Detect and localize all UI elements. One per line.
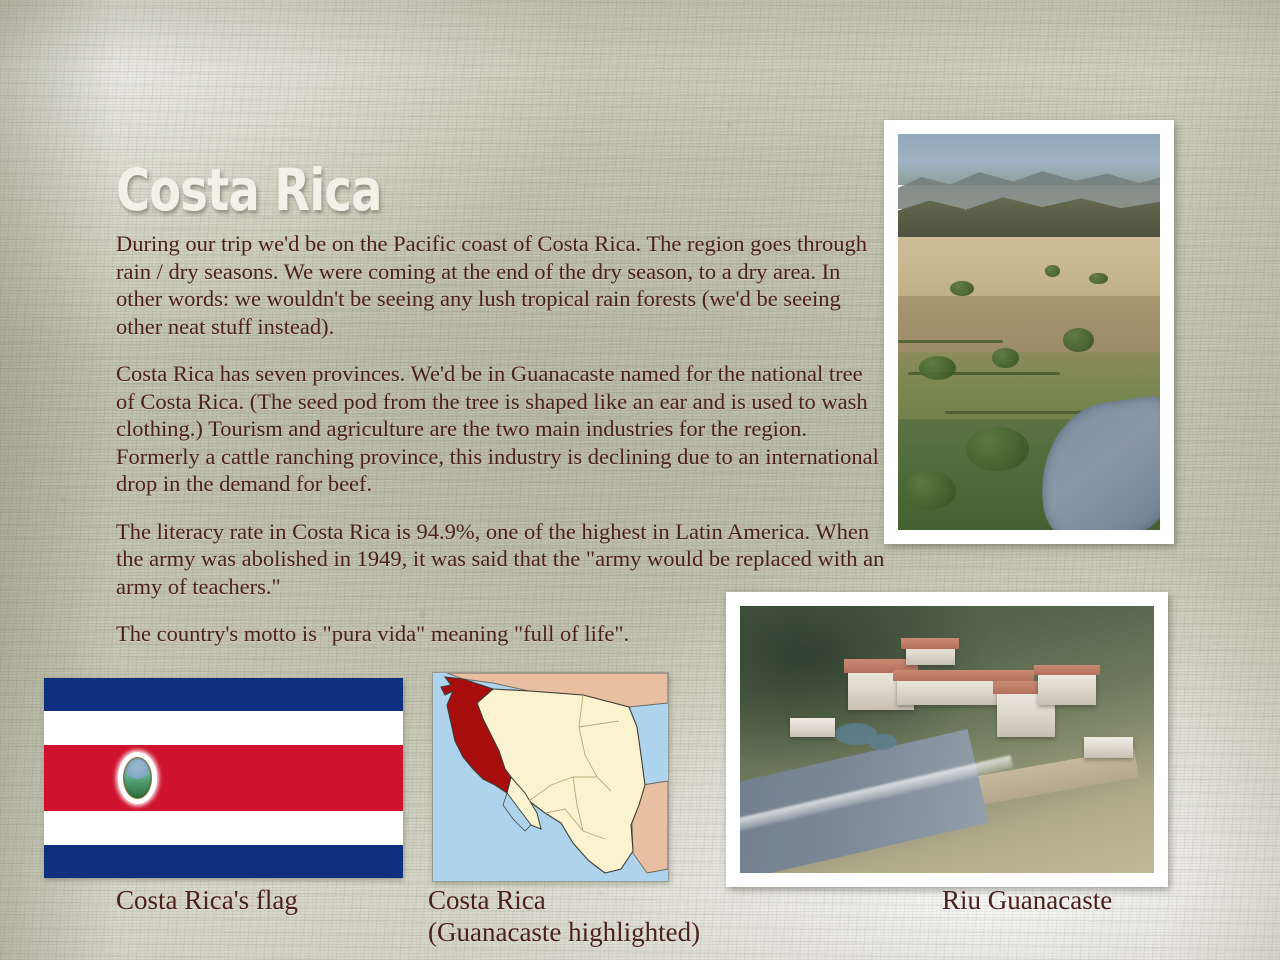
guanacaste-landscape-photo: [884, 120, 1174, 544]
flag-stripe-blue-top: [44, 678, 403, 711]
coat-of-arms: [118, 752, 157, 804]
resort-roof: [893, 670, 1034, 681]
landscape-dry-plain-lower: [898, 296, 1160, 359]
flag-stripe-white-top: [44, 711, 403, 744]
resort-photo-image: [740, 606, 1154, 873]
flag-stripe-red: [44, 745, 403, 812]
resort-outbuilding: [790, 718, 836, 737]
paragraph-1: During our trip we'd be on the Pacific c…: [116, 230, 886, 340]
costa-rica-province-map: [432, 672, 669, 882]
landscape-dry-plain-upper: [898, 237, 1160, 304]
body-text: During our trip we'd be on the Pacific c…: [116, 230, 886, 648]
landscape-tree: [919, 356, 956, 380]
riu-guanacaste-resort-photo: [726, 592, 1168, 887]
coat-of-arms-shield: [123, 757, 152, 799]
slide-canvas: Costa Rica During our trip we'd be on th…: [0, 0, 1280, 960]
landscape-tree: [966, 427, 1029, 471]
landscape-hedgerow: [898, 340, 1003, 343]
resort-outbuilding: [1084, 737, 1134, 758]
landscape-photo-image: [898, 134, 1160, 530]
landscape-tree: [1063, 328, 1094, 352]
costa-rica-flag: [44, 678, 403, 878]
resort-roof: [901, 638, 959, 649]
caption-resort: Riu Guanacaste: [942, 884, 1112, 916]
landscape-tree: [1089, 273, 1107, 285]
map-svg: [433, 673, 668, 881]
caption-flag: Costa Rica's flag: [116, 884, 298, 916]
flag-stripe-blue-bottom: [44, 845, 403, 878]
landscape-tree: [950, 281, 974, 297]
landscape-tree: [992, 348, 1018, 368]
landscape-tree: [1045, 265, 1061, 277]
resort-roof: [1034, 665, 1100, 676]
page-title: Costa Rica: [116, 159, 382, 221]
landscape-tree: [903, 471, 955, 511]
paragraph-2: Costa Rica has seven provinces. We'd be …: [116, 360, 886, 498]
paragraph-3: The literacy rate in Costa Rica is 94.9%…: [116, 518, 886, 601]
flag-stripe-white-bottom: [44, 811, 403, 844]
caption-map: Costa Rica (Guanacaste highlighted): [428, 884, 700, 948]
